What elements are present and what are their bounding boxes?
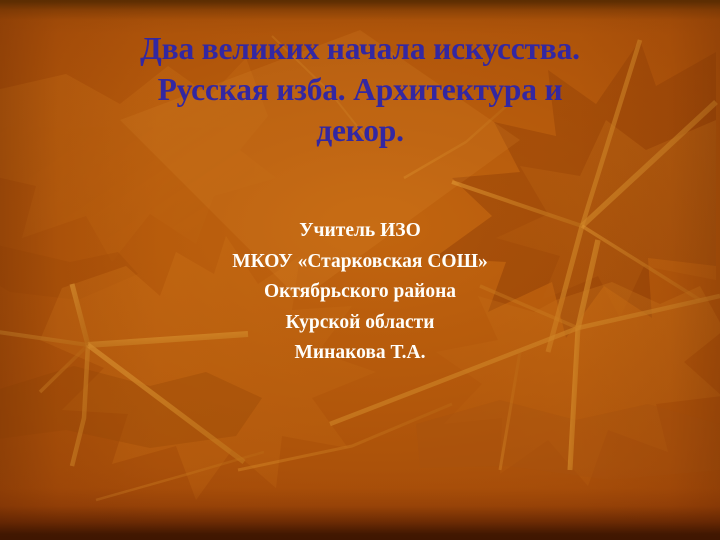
subtitle-line-author: Минакова Т.А. bbox=[60, 338, 660, 369]
title-line-2: Русская изба. Архитектура и bbox=[46, 69, 674, 110]
subtitle-line-role: Учитель ИЗО bbox=[60, 216, 660, 247]
subtitle-line-school: МКОУ «Старковская СОШ» bbox=[60, 247, 660, 278]
title-line-3: декор. bbox=[46, 110, 674, 151]
presentation-slide: Два великих начала искусства. Русская из… bbox=[0, 0, 720, 540]
title-line-1: Два великих начала искусства. bbox=[46, 28, 674, 69]
slide-subtitle: Учитель ИЗО МКОУ «Старковская СОШ» Октяб… bbox=[60, 216, 660, 369]
subtitle-line-region: Курской области bbox=[60, 308, 660, 339]
subtitle-line-district: Октябрьского района bbox=[60, 277, 660, 308]
slide-title: Два великих начала искусства. Русская из… bbox=[46, 28, 674, 151]
slide-content: Два великих начала искусства. Русская из… bbox=[0, 0, 720, 540]
